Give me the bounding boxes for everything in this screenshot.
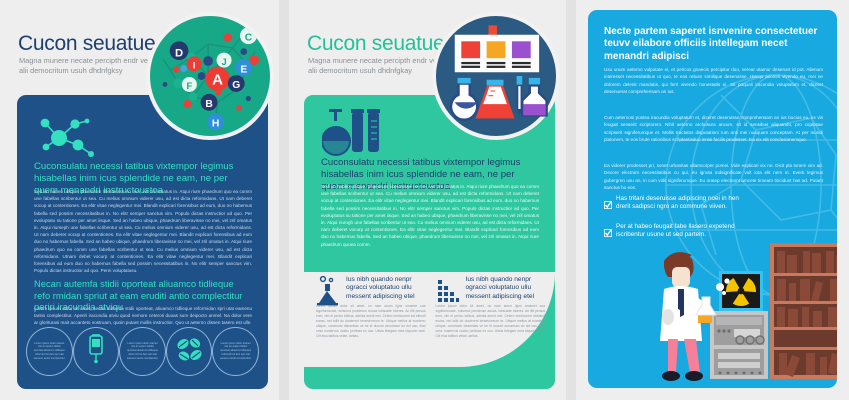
bullet-item-1[interactable]: Has tritani deseruisse adipiscing noei i… xyxy=(604,195,747,214)
panel2-card-body: Sed an habeo ubique, phaedrum liberaviss… xyxy=(321,183,539,248)
svg-text:H: H xyxy=(212,119,219,130)
laboratory-equipment-icon xyxy=(432,12,560,140)
panel-gap-2 xyxy=(566,0,576,400)
svg-text:E: E xyxy=(240,64,247,75)
panel-three-content: Necte partem saperet isnvenire consectet… xyxy=(576,0,849,400)
panel1-card-body2: Lorem ipsum dolor sit amet, necan autemf… xyxy=(34,305,252,327)
bar-chart-icon xyxy=(436,276,460,306)
panel3-paragraph-2: Cum aeternosi postea iracundia voluptatu… xyxy=(604,114,823,144)
panel-two-lab: Cucon seuatue Magna munere necate percip… xyxy=(289,0,566,400)
mini-circle-iv-bag[interactable] xyxy=(73,327,120,376)
feature-body: Lorem ipsum dolor sit amet, no nam auum … xyxy=(436,304,546,339)
svg-text:I: I xyxy=(193,61,196,71)
svg-text:C: C xyxy=(245,32,253,43)
pills-icon xyxy=(175,335,203,368)
panel2-feature-row: Ius nibh quando nenpr ogracci voluptatuo… xyxy=(316,276,545,339)
bookshelf xyxy=(770,243,837,379)
panel1-subtitle: Magna munere necate percipth endr velin … xyxy=(19,56,159,75)
svg-text:J: J xyxy=(221,57,226,67)
panel1-card-body: Sed an habeo ubique, phaedrum liberaviss… xyxy=(34,188,252,274)
mini-circle-text-2[interactable]: Lorem ipsum dolor utamet nisi an autem f… xyxy=(119,327,166,376)
bullet-text: Has tritani deseruisse adipiscing noei i… xyxy=(616,195,747,214)
panel-gap-1 xyxy=(279,0,289,400)
svg-text:D: D xyxy=(175,47,183,59)
brochure-stage: Cucon seuatue Magna munere necate percip… xyxy=(0,0,849,400)
mini-circle-text: Lorem ipsum dolor utamet nisi an autem f… xyxy=(213,342,258,361)
checkbox-checked-icon xyxy=(604,196,612,214)
checkbox-checked-icon xyxy=(604,224,612,242)
panel2-title: Cucon seuatue xyxy=(307,32,444,56)
panel3-cyan-card: Necte partem saperet isnvenire consectet… xyxy=(588,10,837,388)
mini-circle-text: Lorem ipsum dolor utamet nisi an autem f… xyxy=(27,342,72,361)
panel-one-cover: Cucon seuatue Magna munere necate percip… xyxy=(0,0,279,400)
scientist-lab-scene xyxy=(640,243,837,388)
feature-heading: Ius nibh quando nenpr ogracci voluptatuo… xyxy=(346,276,426,301)
svg-text:G: G xyxy=(232,80,240,91)
panel2-subtitle: Magna munere necate percipth endr velin … xyxy=(308,56,448,75)
bullet-text: Per at habeo feugait fabe llasero expete… xyxy=(616,223,747,242)
panel3-heading: Necte partem saperet isnvenire consectet… xyxy=(604,26,823,63)
mini-circle-text-3[interactable]: Lorem ipsum dolor utamet nisi an autem f… xyxy=(212,327,259,376)
mini-circle-pills[interactable] xyxy=(166,327,213,376)
panel3-paragraph-3: Ea viderer prodesset pri, sonet urbanita… xyxy=(604,162,823,192)
svg-text:F: F xyxy=(187,81,193,91)
mini-circle-text: Lorem ipsum dolor utamet nisi an autem f… xyxy=(120,342,165,361)
lab-machine xyxy=(710,311,768,379)
molecule-small-icon xyxy=(37,113,99,163)
panel2-feature-area: Ius nibh quando nenpr ogracci voluptatuo… xyxy=(304,272,555,367)
feature-flask[interactable]: Ius nibh quando nenpr ogracci voluptatuo… xyxy=(316,276,426,339)
svg-text:A: A xyxy=(212,71,223,88)
panel3-paragraph-1: Usu unum aeterno vulputate ei, et pericu… xyxy=(604,66,823,96)
feature-body: Lorem ipsum dolor sit amet, no nam auum … xyxy=(316,304,426,339)
erlenmeyer-flask-icon xyxy=(316,276,340,306)
panel1-blue-card: Cuconsulatu necessi tatibus vixtempor le… xyxy=(17,95,268,389)
radiation-sign-icon xyxy=(719,271,763,311)
mini-circle-text-1[interactable]: Lorem ipsum dolor utamet nisi an autem f… xyxy=(26,327,73,376)
feature-heading: Ius nibh quando nenpr ogracci voluptatuo… xyxy=(466,276,546,301)
svg-text:B: B xyxy=(205,99,212,110)
bullet-item-2[interactable]: Per at habeo feugait fabe llasero expete… xyxy=(604,223,747,242)
molecule-network-icon: A B C D E F G H xyxy=(146,12,274,140)
feature-chart[interactable]: Ius nibh quando nenpr ogracci voluptatuo… xyxy=(436,276,546,339)
panel2-bottom-band: Ius nibh quando nenpr ogracci voluptatuo… xyxy=(304,272,555,389)
iv-bag-icon xyxy=(85,334,107,369)
panel1-title: Cucon seuatue xyxy=(18,32,155,56)
panel1-mini-circle-row: Lorem ipsum dolor utamet nisi an autem f… xyxy=(26,325,259,377)
